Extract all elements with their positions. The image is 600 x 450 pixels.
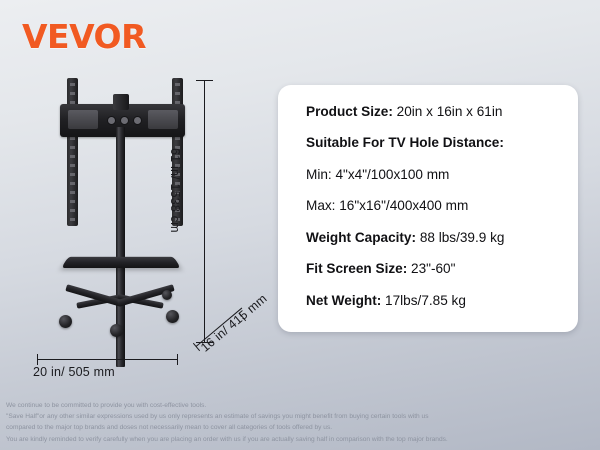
width-dimension-label: 20 in/ 505 mm <box>33 365 115 379</box>
brand-logo: VEVOR <box>22 17 146 56</box>
spec-row: Fit Screen Size: 23"-60" <box>278 261 578 278</box>
spec-value: Max: 16"x16"/400x400 mm <box>306 198 468 213</box>
spec-value: 88 lbs/39.9 kg <box>420 230 505 245</box>
disclaimer-line: We continue to be committed to provide y… <box>6 400 598 411</box>
spec-row: Product Size: 20in x 16in x 61in <box>278 104 578 121</box>
spec-row: Max: 16"x16"/400x400 mm <box>278 198 578 215</box>
spec-row: Min: 4"x4"/100x100 mm <box>278 167 578 184</box>
caster-wheel-rear-right <box>162 290 172 300</box>
width-tick-left <box>37 354 38 365</box>
caster-wheel-front-left <box>59 315 72 328</box>
spec-row: Weight Capacity: 88 lbs/39.9 kg <box>278 230 578 247</box>
specification-panel: Product Size: 20in x 16in x 61in Suitabl… <box>278 85 578 332</box>
bracket-knob-1 <box>107 116 116 125</box>
mount-neck <box>113 94 129 110</box>
spec-key: Weight Capacity: <box>306 230 416 245</box>
accessory-shelf <box>61 257 181 268</box>
caster-wheel-front-center <box>110 324 123 337</box>
height-dimension-label: 61 in/ 1538 cm <box>168 148 182 233</box>
spec-value: 23"-60" <box>411 261 455 276</box>
disclaimer-text: We continue to be committed to provide y… <box>6 400 598 445</box>
disclaimer-line: "Save Half"or any other similar expressi… <box>6 411 598 422</box>
width-tick-right <box>177 354 178 365</box>
spec-key: Fit Screen Size: <box>306 261 407 276</box>
caster-wheel-front-right <box>166 310 179 323</box>
spec-key: Product Size: <box>306 104 393 119</box>
vesa-rail-left-icon <box>67 78 78 226</box>
disclaimer-line: You are kindly reminded to verify carefu… <box>6 434 598 445</box>
bracket-knob-2 <box>120 116 129 125</box>
height-dimension-line <box>204 80 205 342</box>
bracket-plate-left <box>68 110 98 129</box>
spec-key: Net Weight: <box>306 293 381 308</box>
bracket-plate-right <box>148 110 178 129</box>
spec-value: 17lbs/7.85 kg <box>385 293 466 308</box>
height-tick-top <box>196 80 213 81</box>
spec-value: 20in x 16in x 61in <box>397 104 503 119</box>
spec-row: Suitable For TV Hole Distance: <box>278 135 578 152</box>
spec-key: Suitable For TV Hole Distance: <box>306 135 504 150</box>
bracket-knob-3 <box>133 116 142 125</box>
spec-value: Min: 4"x4"/100x100 mm <box>306 167 449 182</box>
width-dimension-line <box>37 359 177 360</box>
disclaimer-line: compared to the major top brands and dos… <box>6 422 598 433</box>
spec-row: Net Weight: 17lbs/7.85 kg <box>278 293 578 310</box>
depth-dimension-label: 16 in/ 415 mm <box>198 291 270 354</box>
